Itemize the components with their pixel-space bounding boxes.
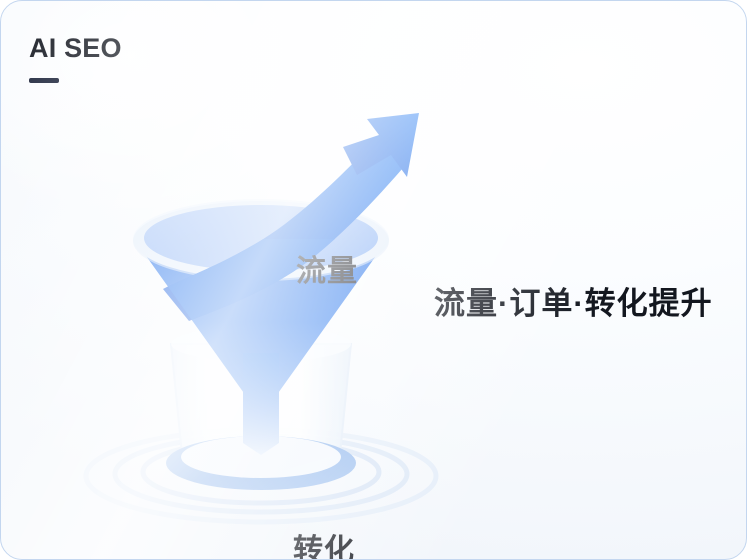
tagline-text: 流量·订单·转化提升 [434, 278, 713, 323]
conversion-funnel-illustration: 流量 转化 [71, 91, 451, 531]
seo-funnel-card: AI SEO 流量·订单·转化提升 [0, 0, 747, 560]
brand-block: AI SEO [29, 35, 122, 83]
page-title: AI SEO [29, 35, 122, 62]
stage-label-conversion: 转化 [293, 525, 355, 560]
stage-label-traffic: 流量 [296, 246, 358, 290]
title-underline-rule [29, 78, 59, 83]
